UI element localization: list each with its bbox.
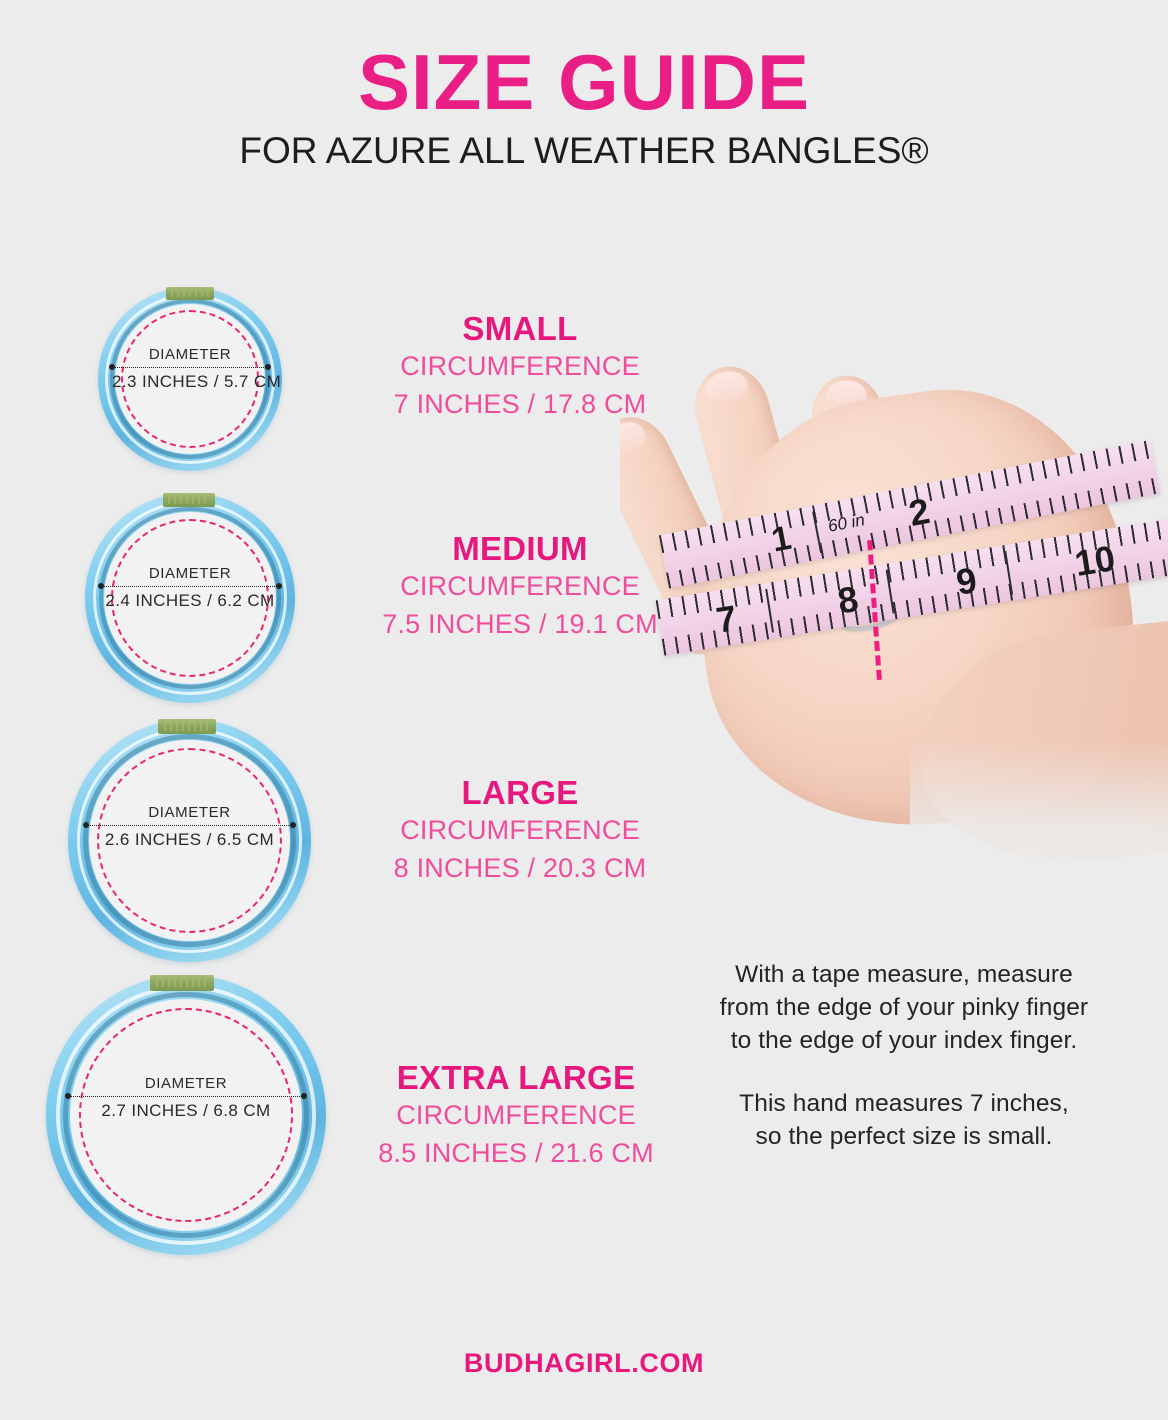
size-row-extra-large: DIAMETER 2.7 INCHES / 6.8 CM EXTRA LARGE… bbox=[46, 975, 326, 1255]
bangle-inner-dashed-circle bbox=[121, 310, 259, 448]
fingernail bbox=[620, 416, 650, 461]
hand-measurement-photo: 7 8 9 10 1 60 in 2 bbox=[620, 300, 1168, 1000]
circumference-label-extra-large: CIRCUMFERENCE bbox=[366, 1099, 666, 1133]
bangle-illustration-large: DIAMETER 2.6 INCHES / 6.5 CM bbox=[68, 719, 311, 962]
bangle-brand-label-patch bbox=[163, 493, 215, 507]
bangle-brand-label-patch bbox=[158, 719, 216, 734]
size-info-extra-large: EXTRA LARGE CIRCUMFERENCE 8.5 INCHES / 2… bbox=[366, 1060, 666, 1171]
size-name-extra-large: EXTRA LARGE bbox=[366, 1060, 666, 1096]
size-row-small: DIAMETER 2.3 INCHES / 5.7 CM SMALL CIRCU… bbox=[98, 287, 282, 471]
fingernail bbox=[703, 367, 751, 407]
tape-number-10: 10 bbox=[1072, 537, 1118, 585]
page-header: SIZE GUIDE FOR AZURE ALL WEATHER BANGLES… bbox=[0, 0, 1168, 171]
bangle-inner-dashed-circle bbox=[111, 519, 269, 677]
bangle-inner-dashed-circle bbox=[79, 1008, 293, 1222]
footer-website[interactable]: BUDHAGIRL.COM bbox=[0, 1348, 1168, 1379]
measurement-instructions: With a tape measure, measure from the ed… bbox=[684, 958, 1124, 1153]
instruction-line-2: from the edge of your pinky finger bbox=[684, 991, 1124, 1024]
photo-bottom-fade bbox=[910, 740, 1168, 900]
circumference-value-extra-large: 8.5 INCHES / 21.6 CM bbox=[366, 1137, 666, 1171]
instruction-line-1: With a tape measure, measure bbox=[684, 958, 1124, 991]
bangle-illustration-extra-large: DIAMETER 2.7 INCHES / 6.8 CM bbox=[46, 975, 326, 1255]
instruction-line-3: to the edge of your index finger. bbox=[684, 1024, 1124, 1057]
size-row-large: DIAMETER 2.6 INCHES / 6.5 CM LARGE CIRCU… bbox=[68, 719, 311, 962]
bangle-inner-dashed-circle bbox=[97, 748, 282, 933]
page-subtitle: FOR AZURE ALL WEATHER BANGLES® bbox=[0, 132, 1168, 171]
bangle-illustration-small: DIAMETER 2.3 INCHES / 5.7 CM bbox=[98, 287, 282, 471]
instruction-line-4: This hand measures 7 inches, bbox=[684, 1087, 1124, 1120]
bangle-brand-label-patch bbox=[150, 975, 214, 991]
page-title: SIZE GUIDE bbox=[0, 44, 1168, 120]
bangle-brand-label-patch bbox=[166, 287, 214, 300]
instruction-line-5: so the perfect size is small. bbox=[684, 1120, 1124, 1153]
size-row-medium: DIAMETER 2.4 INCHES / 6.2 CM MEDIUM CIRC… bbox=[85, 493, 295, 703]
bangle-illustration-medium: DIAMETER 2.4 INCHES / 6.2 CM bbox=[85, 493, 295, 703]
